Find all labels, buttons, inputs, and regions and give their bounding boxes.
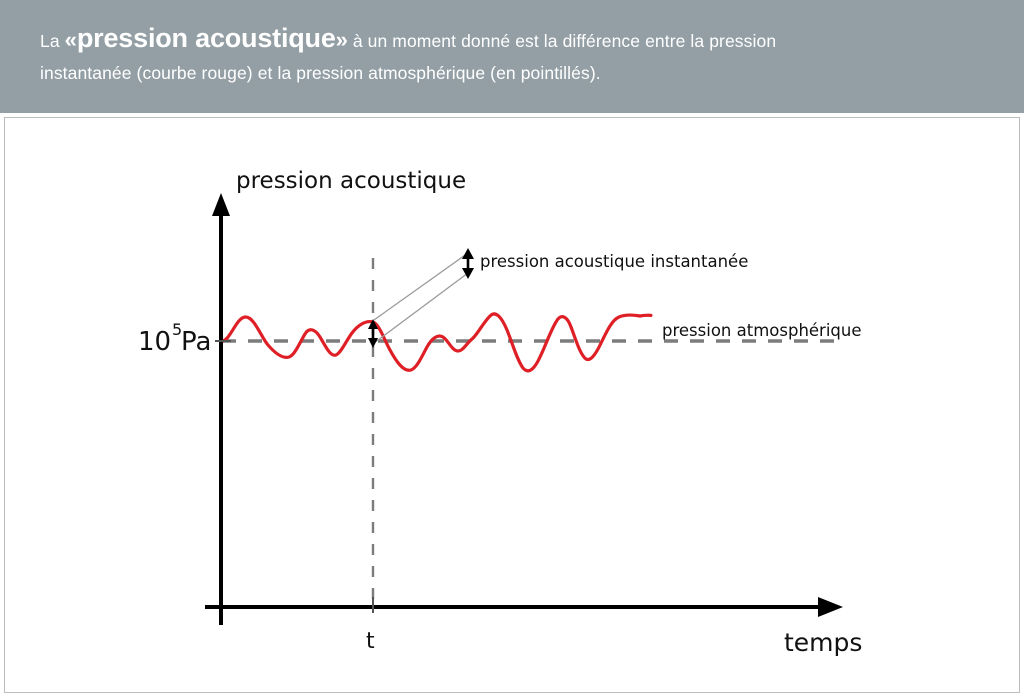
leader-line-lower [374, 273, 468, 343]
y-axis-arrow-head [212, 193, 230, 216]
callout-atmospheric-pressure: pression atmosphérique [662, 321, 862, 340]
instantaneous-pressure-arrow-large [462, 248, 474, 279]
y-axis-value-unit: Pa [181, 327, 211, 357]
pressure-diagram: pression acoustique temps 10 5 Pa t pres… [0, 0, 1024, 697]
x-axis-tick-label-t: t [366, 629, 375, 654]
y-axis-label: pression acoustique [236, 168, 466, 194]
x-axis-label: temps [784, 628, 862, 657]
x-axis-arrow-head [818, 597, 843, 617]
y-axis-value-base: 10 [138, 327, 171, 357]
leader-line-upper [374, 253, 468, 320]
callout-instantaneous-pressure: pression acoustique instantanée [480, 252, 748, 271]
instantaneous-pressure-curve-fade [640, 315, 657, 316]
diagram-page: La «pression acoustique» à un moment don… [0, 0, 1024, 697]
